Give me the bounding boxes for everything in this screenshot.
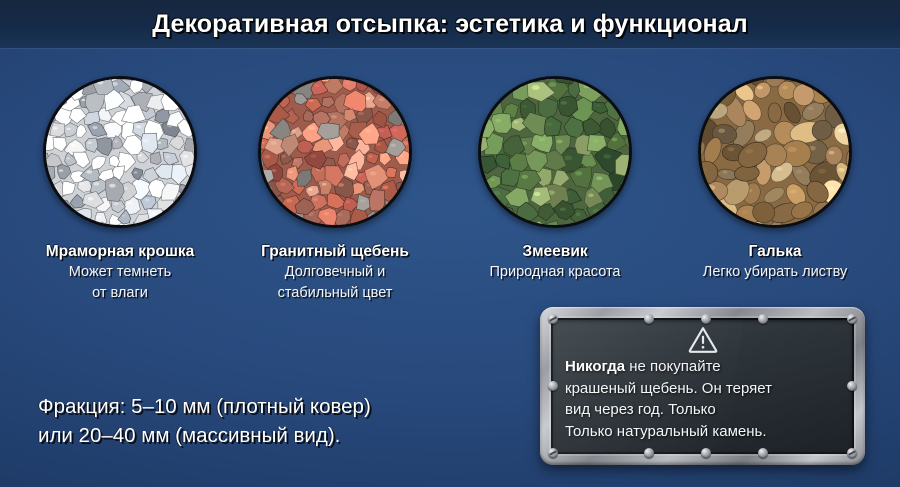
granite-texture <box>258 76 412 228</box>
sample-title: Мраморная крошка <box>9 242 231 261</box>
sample-desc-line2: от влаги <box>9 284 231 303</box>
plaque-rivet-bottom-3 <box>758 448 768 458</box>
sample-card-granite: Гранитный щебень Долговечный и стабильны… <box>220 76 450 303</box>
sample-label: Змеевик Природная красота <box>440 242 670 282</box>
serpentine-texture <box>478 76 632 228</box>
fraction-note-line2: или 20–40 мм (массивный вид). <box>38 421 498 450</box>
warning-triangle-icon <box>688 326 718 353</box>
sample-desc-line1: Природная красота <box>444 263 666 282</box>
plaque-screw-top-right <box>847 314 857 324</box>
sample-title: Галька <box>664 242 886 261</box>
sample-desc-line1: Может темнеть <box>9 263 231 282</box>
plaque-rivet-bottom-1 <box>644 448 654 458</box>
plaque-rivet-bottom-2 <box>701 448 711 458</box>
plaque-rivet-top-1 <box>644 314 654 324</box>
sample-desc-line1: Долговечный и <box>224 263 446 282</box>
warning-plaque: Никогда не покупайте крашеный щебень. Он… <box>540 307 865 465</box>
serpentine-stone-icon <box>478 76 632 228</box>
plaque-line-4: Только натуральный камень. <box>565 421 844 443</box>
plaque-rivet-left <box>548 381 558 391</box>
plaque-screw-bottom-left <box>548 448 558 458</box>
pebbles-texture <box>698 76 852 228</box>
swatch-wrapper <box>258 76 412 228</box>
sample-card-marble: Мраморная крошка Может темнеть от влаги <box>5 76 235 303</box>
sample-title: Змеевик <box>444 242 666 261</box>
granite-gravel-icon <box>258 76 412 228</box>
infographic-poster: Декоративная отсыпка: эстетика и функцио… <box>0 0 900 487</box>
plaque-text: Никогда не покупайте крашеный щебень. Он… <box>565 356 844 442</box>
page-title: Декоративная отсыпка: эстетика и функцио… <box>152 10 748 39</box>
swatch-wrapper <box>43 76 197 228</box>
plaque-screw-bottom-right <box>847 448 857 458</box>
sample-label: Гранитный щебень Долговечный и стабильны… <box>220 242 450 303</box>
river-pebbles-icon <box>698 76 852 228</box>
sample-label: Галька Легко убирать листву <box>660 242 890 282</box>
sample-title: Гранитный щебень <box>224 242 446 261</box>
swatch-wrapper <box>478 76 632 228</box>
swatch-wrapper <box>698 76 852 228</box>
plaque-line-1: Никогда не покупайте <box>565 356 844 378</box>
fraction-note-line1: Фракция: 5–10 мм (плотный ковер) <box>38 392 498 421</box>
plaque-line-1-rest: не покупайте <box>625 358 721 375</box>
plaque-line-2: крашеный щебень. Он теряет <box>565 378 844 400</box>
marble-chips-icon <box>43 76 197 228</box>
sample-label: Мраморная крошка Может темнеть от влаги <box>5 242 235 303</box>
plaque-rivet-top-2 <box>701 314 711 324</box>
plaque-rivet-right <box>847 381 857 391</box>
plaque-line-3: вид через год. Только <box>565 399 844 421</box>
plaque-lead-word: Никогда <box>565 358 625 375</box>
plaque-screen: Никогда не покупайте крашеный щебень. Он… <box>551 318 854 454</box>
sample-card-pebbles: Галька Легко убирать листву <box>660 76 890 284</box>
sample-desc-line2: стабильный цвет <box>224 284 446 303</box>
marble-texture <box>43 76 197 228</box>
header-band: Декоративная отсыпка: эстетика и функцио… <box>0 0 900 48</box>
plaque-screw-top-left <box>548 314 558 324</box>
sample-card-serpentine: Змеевик Природная красота <box>440 76 670 284</box>
plaque-rivet-top-3 <box>758 314 768 324</box>
fraction-note: Фракция: 5–10 мм (плотный ковер) или 20–… <box>38 392 498 450</box>
sample-desc-line1: Легко убирать листву <box>664 263 886 282</box>
